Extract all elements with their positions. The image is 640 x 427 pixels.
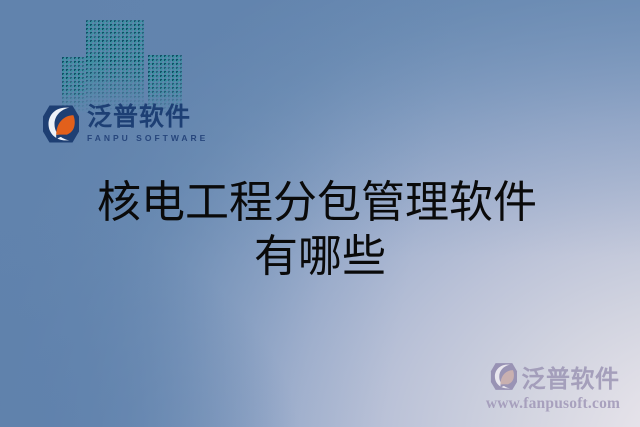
- promo-banner: 泛普软件 FANPU SOFTWARE 核电工程分包管理软件 有哪些 泛普软件 …: [0, 0, 640, 427]
- brand-wordmark: 泛普软件 FANPU SOFTWARE: [87, 105, 208, 143]
- page-title-line-1: 核电工程分包管理软件: [0, 176, 640, 230]
- dot-matrix-skyline-graphic: [60, 18, 185, 113]
- watermark-lockup: 泛普软件: [482, 359, 624, 394]
- page-title-line-2: 有哪些: [0, 230, 640, 284]
- watermark-fanpu-logo-icon: [487, 362, 518, 391]
- watermark-brand-name: 泛普软件: [522, 359, 620, 394]
- brand-name-cn: 泛普软件: [87, 105, 208, 130]
- page-title: 核电工程分包管理软件 有哪些: [0, 176, 640, 283]
- fanpu-logo-icon: [38, 104, 80, 144]
- watermark-url: www.fanpusoft.com: [482, 395, 624, 413]
- skyline-tower-center-dots: [86, 20, 144, 113]
- brand-name-en: FANPU SOFTWARE: [87, 134, 208, 143]
- brand-logo: 泛普软件 FANPU SOFTWARE: [38, 104, 208, 144]
- watermark: 泛普软件 www.fanpusoft.com: [482, 359, 624, 413]
- skyline-tower-center: [86, 20, 144, 113]
